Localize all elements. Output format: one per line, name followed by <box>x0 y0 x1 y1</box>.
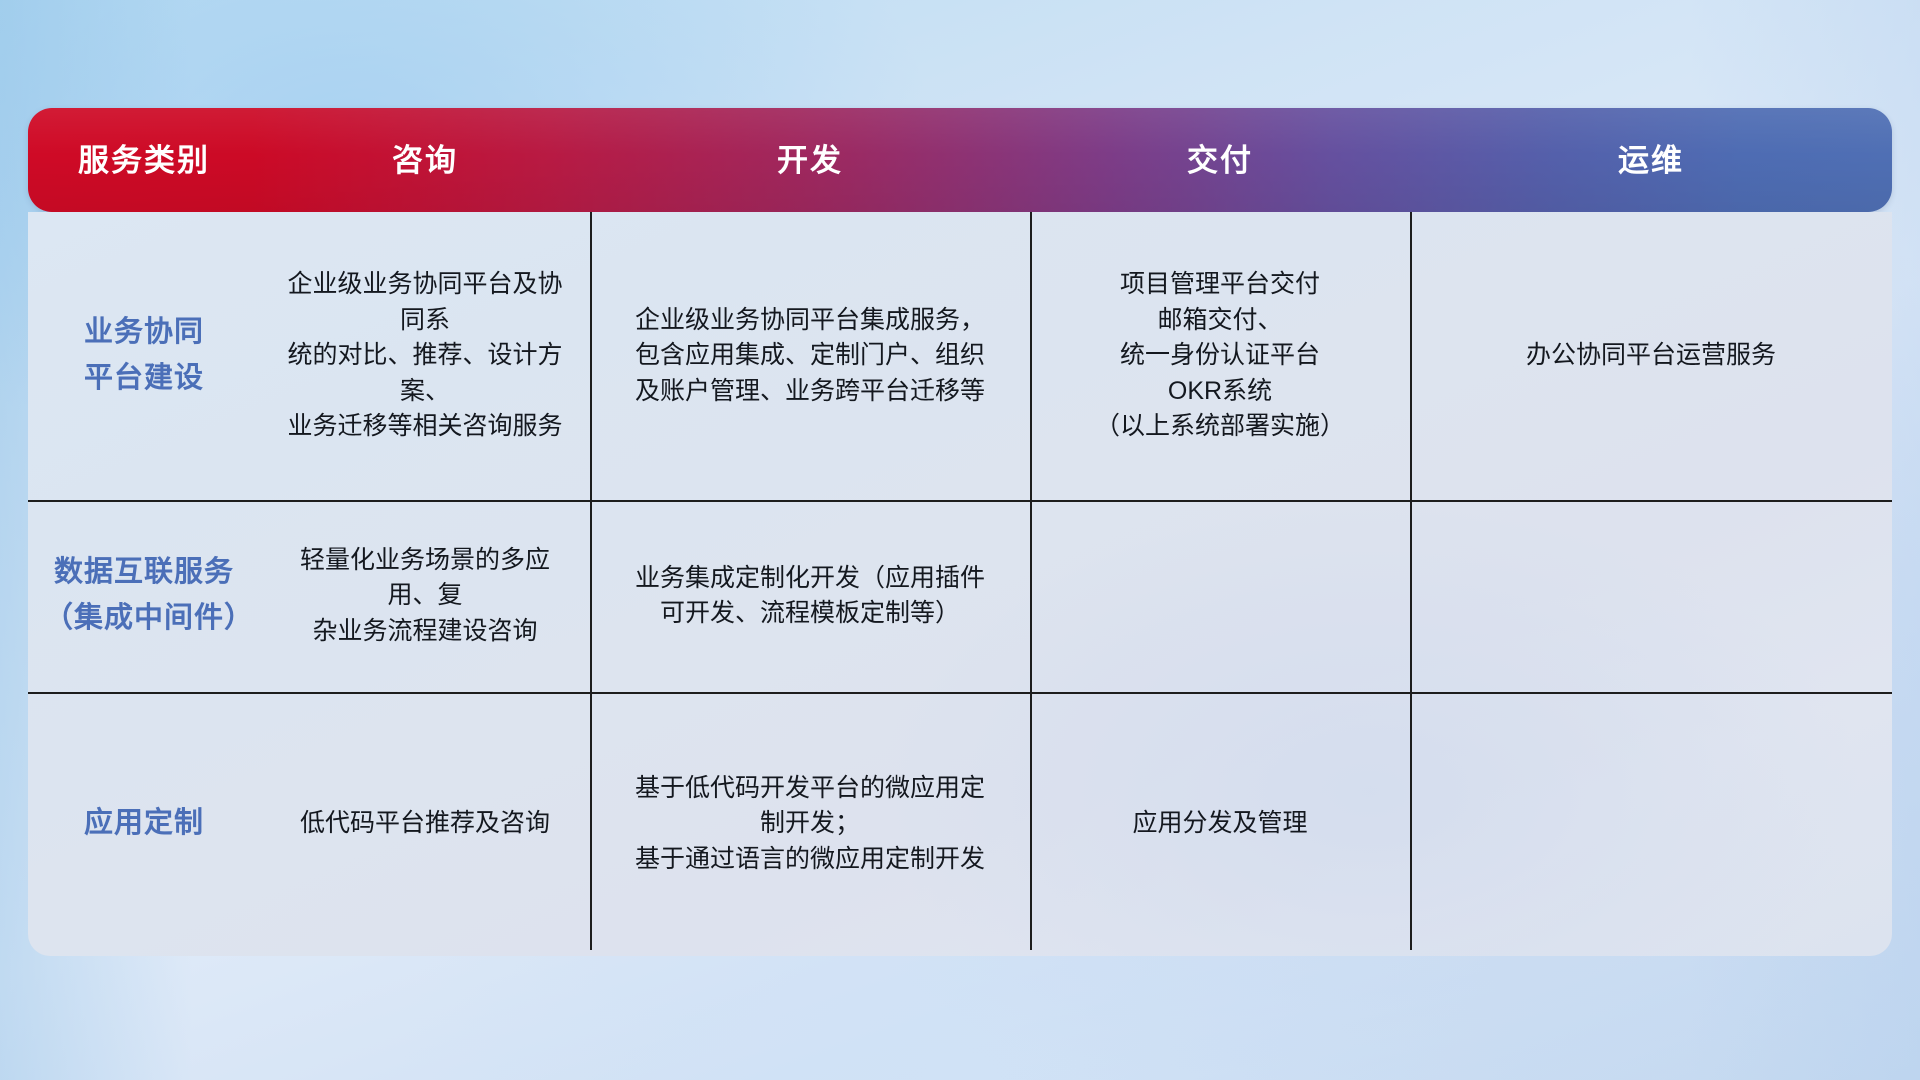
column-header-service-category: 服务类别 <box>28 145 260 176</box>
cell-row1-development: 企业级业务协同平台集成服务， 包含应用集成、定制门户、组织 及账户管理、业务跨平… <box>590 303 1030 410</box>
column-header-operations: 运维 <box>1410 145 1892 176</box>
cell-row1-operations: 办公协同平台运营服务 <box>1410 338 1892 374</box>
row-label-business-collaboration: 业务协同 平台建设 <box>28 310 260 402</box>
service-matrix-table: 服务类别 咨询 开发 交付 运维 业务协同 平台建设 企业级业务协同平台及协同系… <box>28 108 1892 956</box>
cell-row3-consulting: 低代码平台推荐及咨询 <box>260 806 590 842</box>
cell-row2-development: 业务集成定制化开发（应用插件 可开发、流程模板定制等） <box>590 561 1030 632</box>
cell-row3-development: 基于低代码开发平台的微应用定 制开发； 基于通过语言的微应用定制开发 <box>590 771 1030 878</box>
row-label-application-customization: 应用定制 <box>28 801 260 847</box>
row-label-data-interconnect: 数据互联服务 （集成中间件） <box>28 550 260 642</box>
table-body: 业务协同 平台建设 企业级业务协同平台及协同系 统的对比、推荐、设计方案、 业务… <box>28 212 1892 956</box>
table-header-row: 服务类别 咨询 开发 交付 运维 <box>28 108 1892 212</box>
column-header-consulting: 咨询 <box>260 145 590 176</box>
cell-row1-consulting: 企业级业务协同平台及协同系 统的对比、推荐、设计方案、 业务迁移等相关咨询服务 <box>260 267 590 445</box>
cell-row2-consulting: 轻量化业务场景的多应用、复 杂业务流程建设咨询 <box>260 543 590 650</box>
column-header-development: 开发 <box>590 145 1030 176</box>
column-header-delivery: 交付 <box>1030 145 1410 176</box>
table-row: 业务协同 平台建设 企业级业务协同平台及协同系 统的对比、推荐、设计方案、 业务… <box>28 212 1892 500</box>
table-row: 应用定制 低代码平台推荐及咨询 基于低代码开发平台的微应用定 制开发； 基于通过… <box>28 692 1892 956</box>
cell-row3-delivery: 应用分发及管理 <box>1030 806 1410 842</box>
table-row: 数据互联服务 （集成中间件） 轻量化业务场景的多应用、复 杂业务流程建设咨询 业… <box>28 500 1892 692</box>
cell-row1-delivery: 项目管理平台交付 邮箱交付、 统一身份认证平台 OKR系统 （以上系统部署实施） <box>1030 267 1410 445</box>
